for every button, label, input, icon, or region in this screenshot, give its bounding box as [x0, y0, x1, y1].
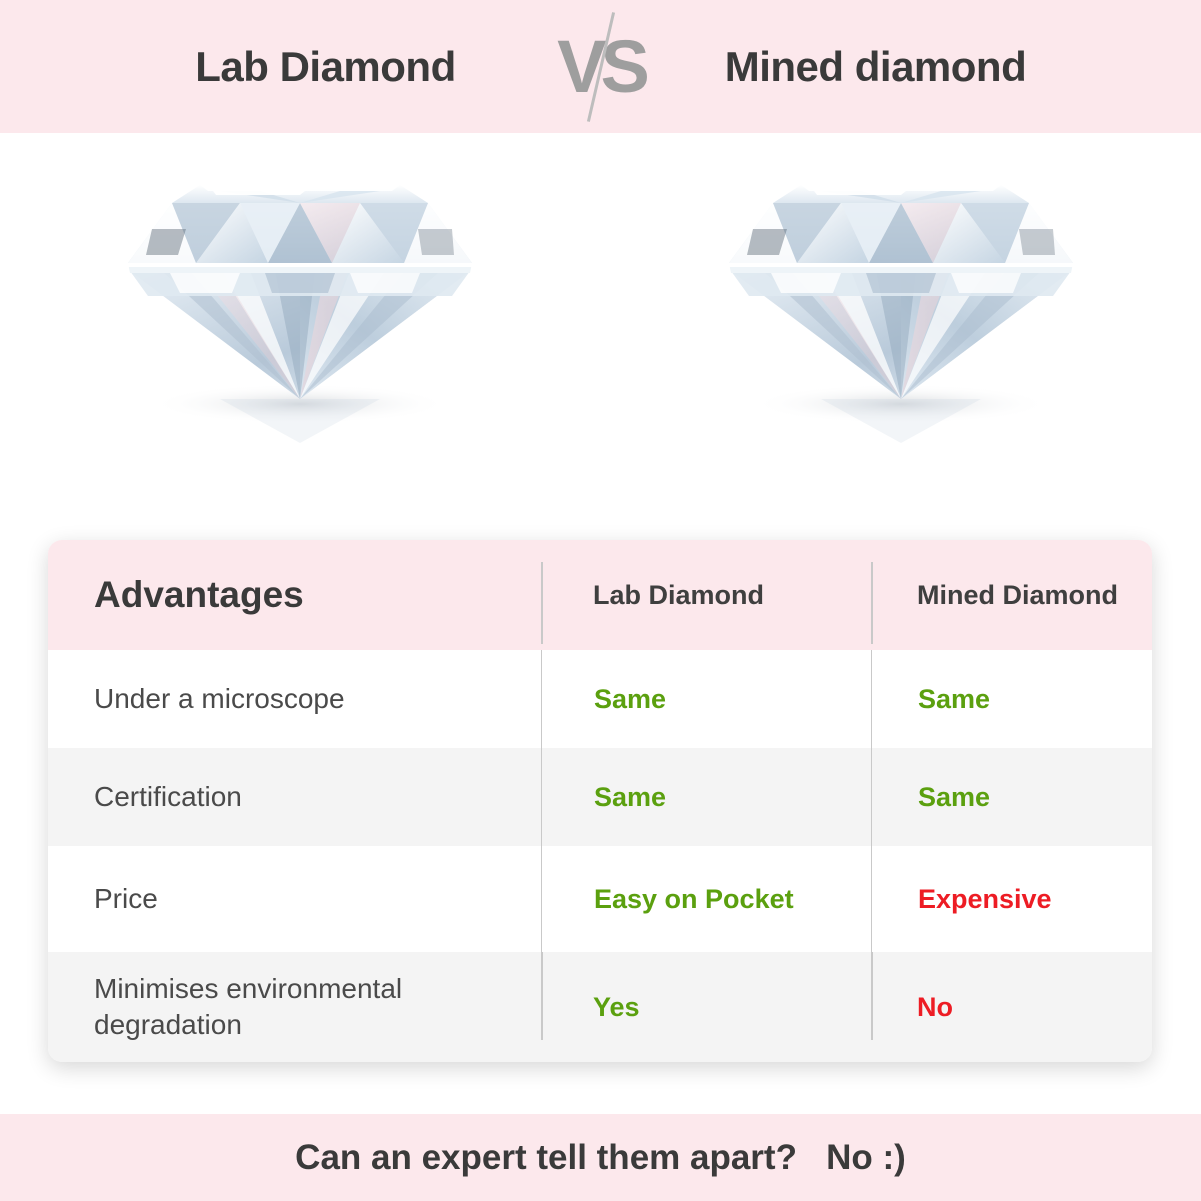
row-feature: Under a microscope	[48, 681, 541, 717]
advantages-label: Advantages	[94, 574, 304, 615]
table-row: Certification Same Same	[48, 748, 1152, 846]
mined-column-label: Mined Diamond	[917, 580, 1118, 611]
row-mined-cell: Same	[871, 748, 1152, 846]
diamond-illustration	[100, 151, 500, 451]
row-mined-value: Same	[918, 782, 990, 813]
row-lab-value: Yes	[593, 992, 640, 1023]
lab-diamond-title: Lab Diamond	[111, 43, 541, 91]
row-mined-cell: Expensive	[871, 846, 1152, 952]
versus-badge: VS	[541, 7, 661, 127]
footer-question: Can an expert tell them apart? No :)	[295, 1138, 906, 1178]
header-cell-lab: Lab Diamond	[541, 540, 871, 650]
row-feature: Price	[48, 881, 541, 917]
diamond-images-section	[0, 133, 1201, 540]
mined-diamond-title: Mined diamond	[661, 43, 1091, 91]
header-banner: Lab Diamond VS Mined diamond	[0, 0, 1201, 133]
lab-column-label: Lab Diamond	[593, 580, 764, 611]
row-mined-value: No	[917, 992, 953, 1023]
mined-diamond-image	[601, 133, 1201, 540]
table-row: Minimises environmental degradation Yes …	[48, 952, 1152, 1062]
footer-banner: Can an expert tell them apart? No :)	[0, 1114, 1201, 1201]
row-lab-cell: Yes	[541, 952, 871, 1062]
row-lab-value: Easy on Pocket	[594, 884, 794, 915]
header-cell-mined: Mined Diamond	[871, 540, 1152, 650]
row-feature: Minimises environmental degradation	[48, 971, 541, 1043]
table-header-row: Advantages Lab Diamond Mined Diamond	[48, 540, 1152, 650]
row-lab-cell: Same	[541, 748, 871, 846]
table-row: Under a microscope Same Same	[48, 650, 1152, 748]
row-lab-cell: Easy on Pocket	[541, 846, 871, 952]
row-lab-value: Same	[594, 782, 666, 813]
row-mined-value: Expensive	[918, 884, 1052, 915]
row-mined-cell: No	[871, 952, 1152, 1062]
row-mined-cell: Same	[871, 650, 1152, 748]
comparison-table: Advantages Lab Diamond Mined Diamond Und…	[48, 540, 1152, 1062]
header-cell-advantages: Advantages	[48, 571, 541, 618]
lab-diamond-image	[0, 133, 600, 540]
row-lab-cell: Same	[541, 650, 871, 748]
row-feature: Certification	[48, 779, 541, 815]
diamond-illustration	[701, 151, 1101, 451]
table-row: Price Easy on Pocket Expensive	[48, 846, 1152, 952]
row-mined-value: Same	[918, 684, 990, 715]
row-lab-value: Same	[594, 684, 666, 715]
